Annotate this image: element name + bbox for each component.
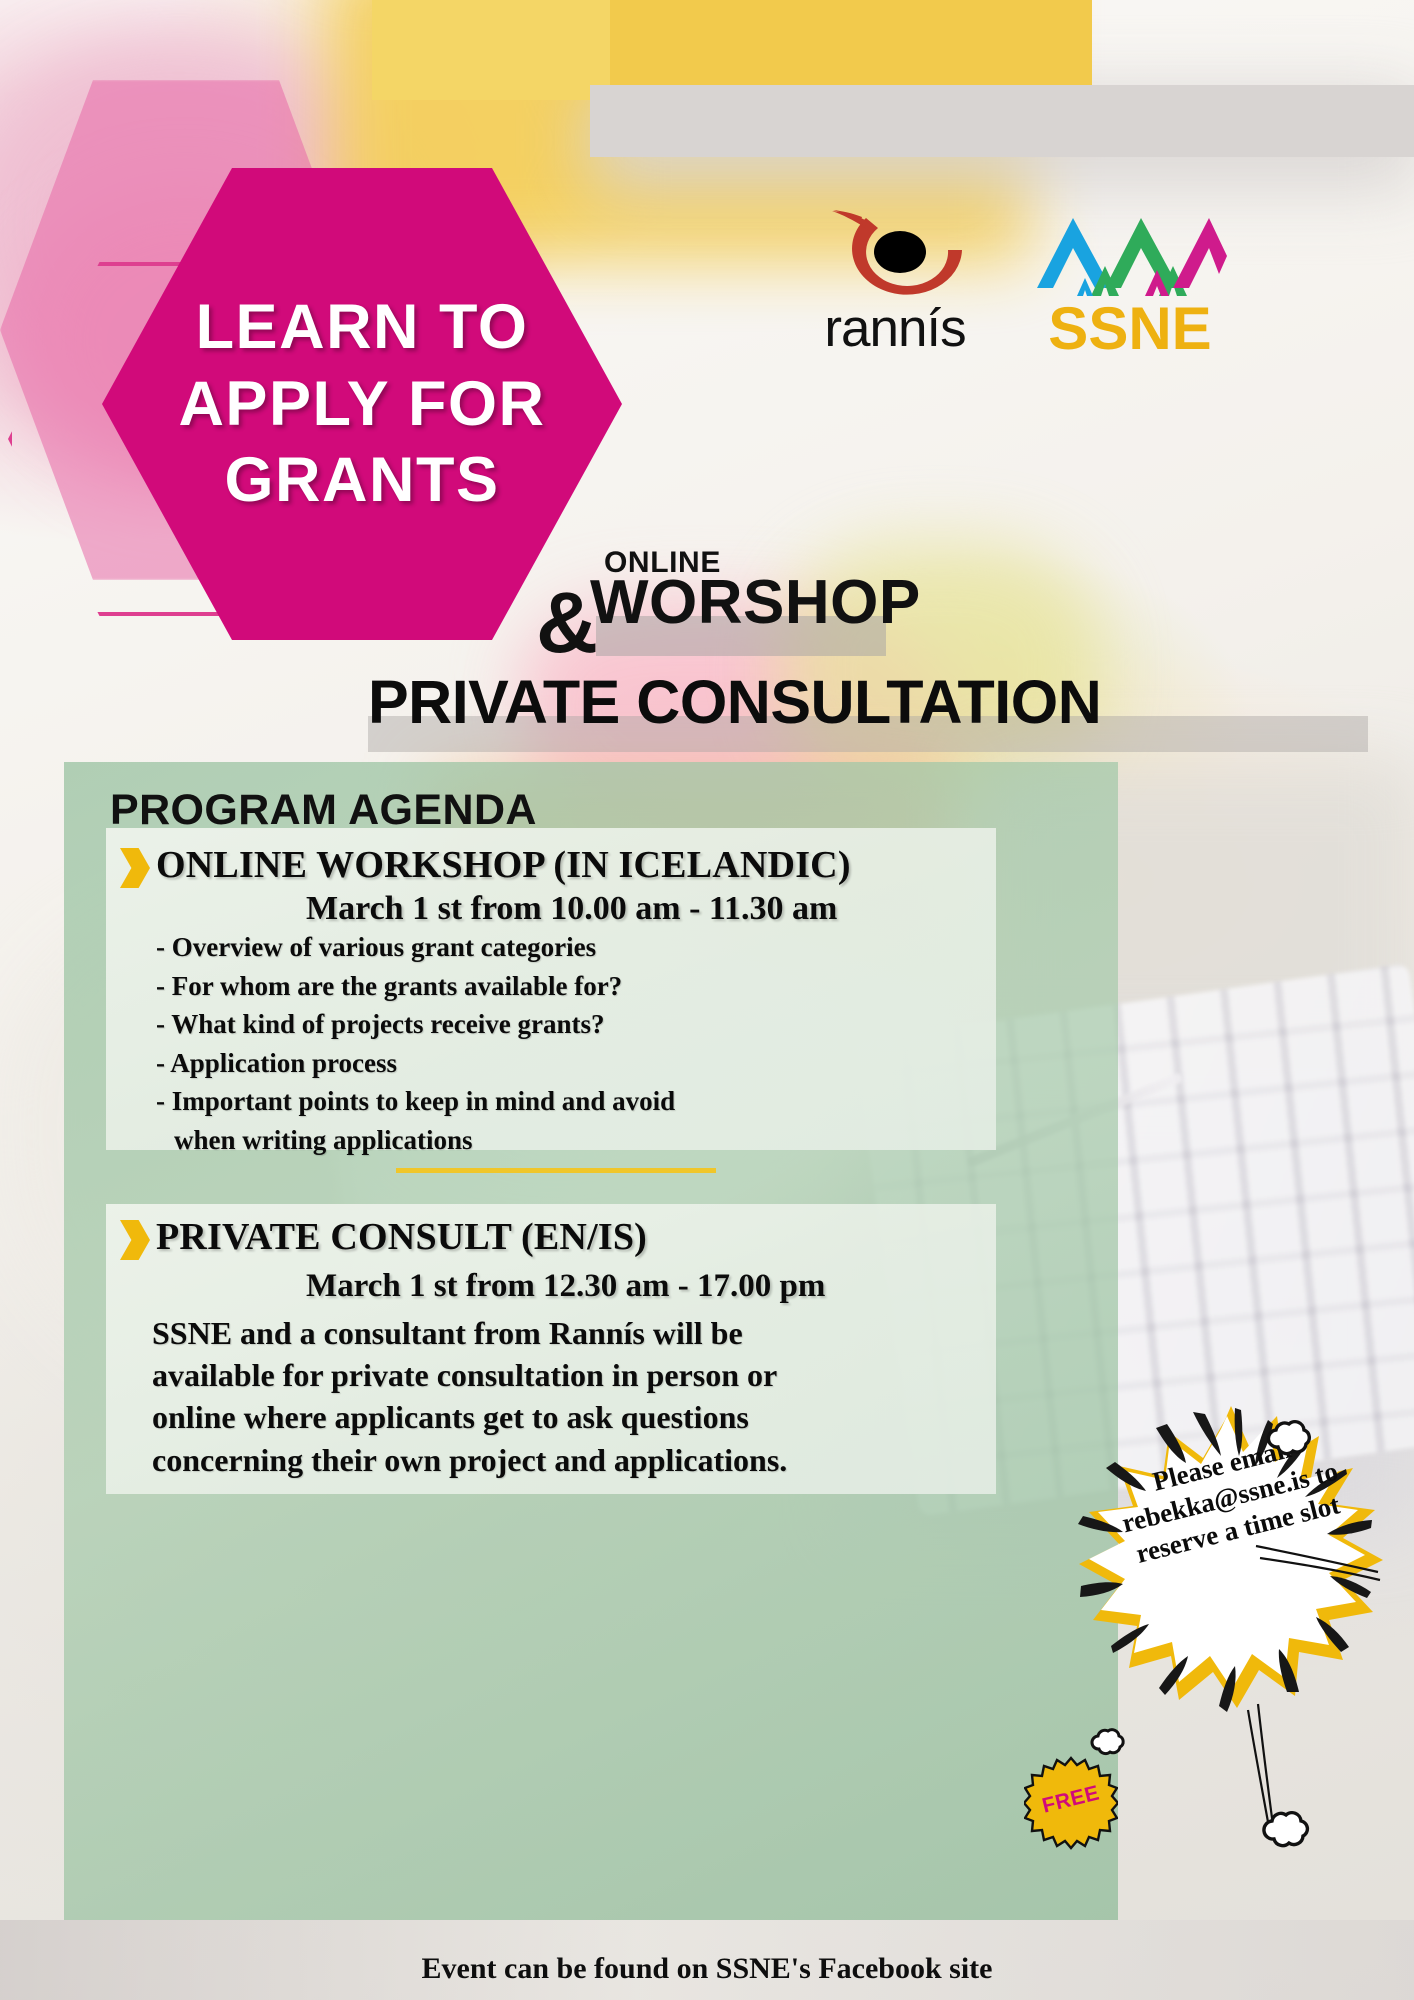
speed-lines-icon bbox=[1252, 1524, 1382, 1594]
section-divider bbox=[396, 1168, 716, 1173]
session-2-heading: PRIVATE CONSULT (EN/IS) bbox=[156, 1215, 647, 1259]
list-item: - Overview of various grant categories bbox=[156, 930, 876, 965]
footer-text: Event can be found on SSNE's Facebook si… bbox=[0, 1952, 1414, 1986]
hero-title-line-2: APPLY FOR bbox=[178, 366, 545, 443]
decor-rect-yellow-light bbox=[372, 0, 610, 100]
decor-rect-gray bbox=[590, 85, 1414, 157]
list-item: - Important points to keep in mind and a… bbox=[156, 1084, 876, 1119]
private-consultation-wrapper: PRIVATE CONSULTATION bbox=[368, 672, 1378, 733]
worshop-heading: WORSHOP bbox=[590, 572, 921, 634]
worshop-wrapper: WORSHOP bbox=[590, 572, 921, 634]
rannis-wordmark: rannís bbox=[790, 298, 1000, 359]
session-1-bullet-list: - Overview of various grant categories -… bbox=[156, 930, 876, 1161]
list-item: - For whom are the grants available for? bbox=[156, 969, 876, 1004]
private-consultation-heading: PRIVATE CONSULTATION bbox=[368, 672, 1378, 733]
session-2-paragraph: SSNE and a consultant from Rannís will b… bbox=[152, 1312, 852, 1481]
logo-group: rannís SSNE bbox=[790, 190, 1260, 360]
ssne-mountains-icon bbox=[1033, 196, 1228, 296]
hero-title-line-3: GRANTS bbox=[225, 442, 500, 519]
ssne-logo: SSNE bbox=[1005, 190, 1255, 360]
rannis-logo: rannís bbox=[790, 190, 1000, 360]
poster-root: LEARN TO APPLY FOR GRANTS rannís bbox=[0, 0, 1414, 2000]
puff-cloud-icon bbox=[1088, 1726, 1126, 1758]
ampersand: & bbox=[536, 580, 598, 666]
list-item-continuation: when writing applications bbox=[174, 1123, 876, 1158]
page-title: LEARN TO APPLY FOR GRANTS bbox=[102, 168, 622, 640]
hero-title-line-1: LEARN TO bbox=[196, 289, 529, 366]
ssne-wordmark: SSNE bbox=[1005, 294, 1255, 363]
list-item: - Application process bbox=[156, 1046, 876, 1081]
session-1-heading: ONLINE WORKSHOP (IN ICELANDIC) bbox=[156, 843, 851, 887]
puff-cloud-icon bbox=[1262, 1418, 1314, 1462]
rannis-eye-icon bbox=[812, 190, 972, 302]
session-1-date: March 1 st from 10.00 am - 11.30 am bbox=[306, 890, 837, 928]
speed-lines-icon bbox=[1200, 1700, 1320, 1830]
list-item: - What kind of projects receive grants? bbox=[156, 1007, 876, 1042]
session-2-date: March 1 st from 12.30 am - 17.00 pm bbox=[306, 1268, 825, 1305]
